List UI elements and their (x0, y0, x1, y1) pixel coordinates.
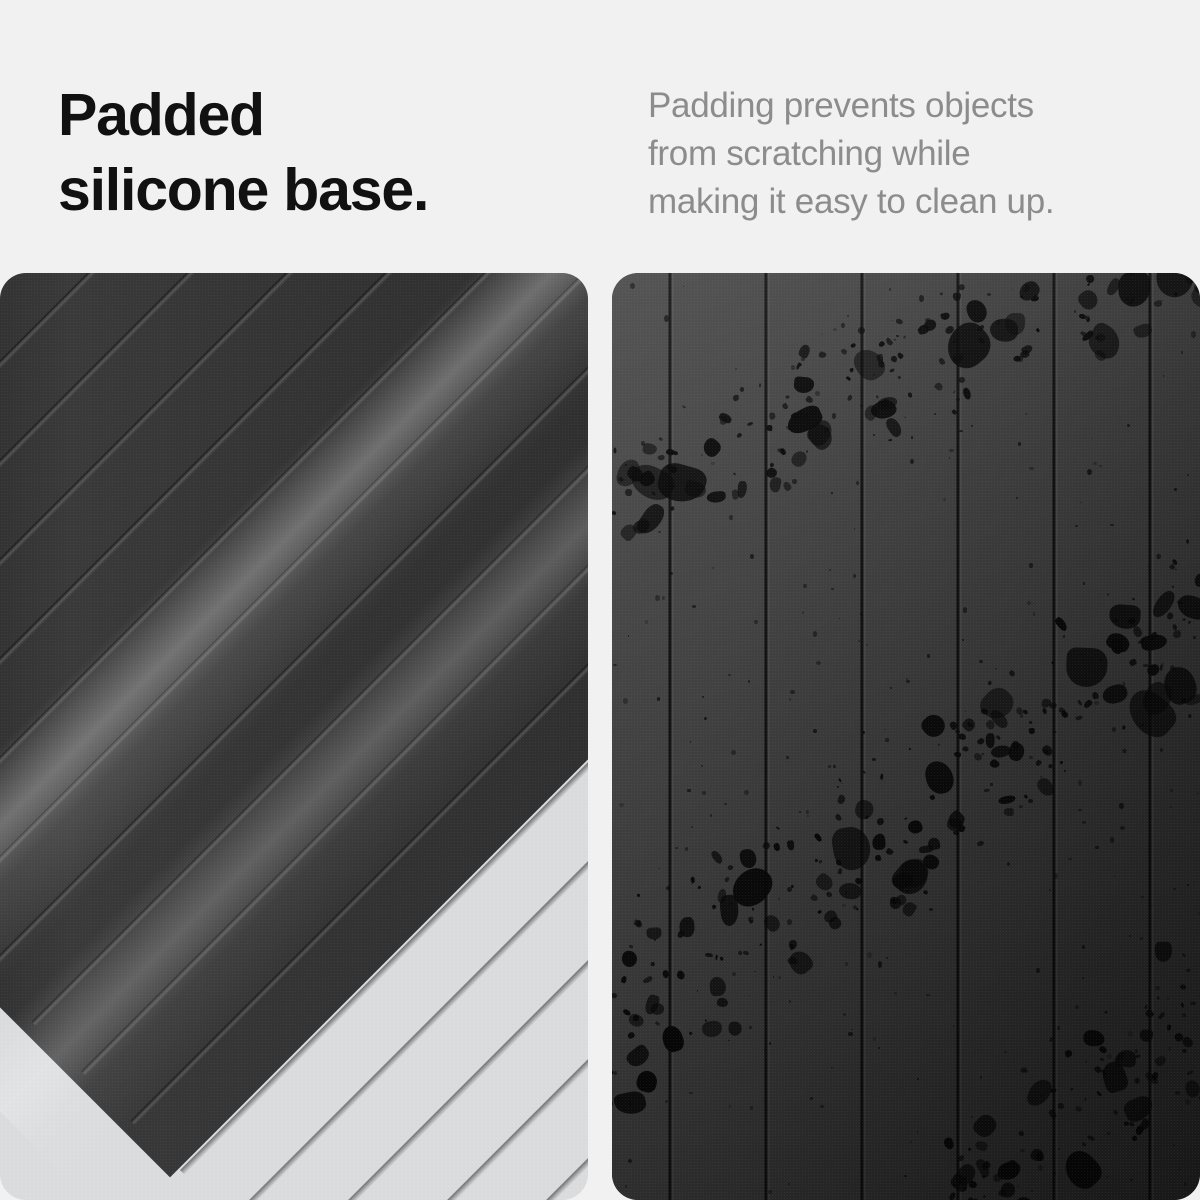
debris-surface-photo (612, 273, 1200, 1200)
page-description: Padding prevents objects from scratching… (648, 82, 1054, 226)
header: Padded silicone base. Padding prevents o… (0, 0, 1200, 273)
page-title: Padded silicone base. (58, 78, 428, 228)
surface-shading (612, 273, 1200, 1200)
product-plate (0, 273, 588, 1200)
plate-grooves (0, 273, 588, 1200)
padded-silicone-base-photo: Silicone padding (0, 273, 588, 1200)
image-panels: Silicone padding (0, 273, 1200, 1200)
